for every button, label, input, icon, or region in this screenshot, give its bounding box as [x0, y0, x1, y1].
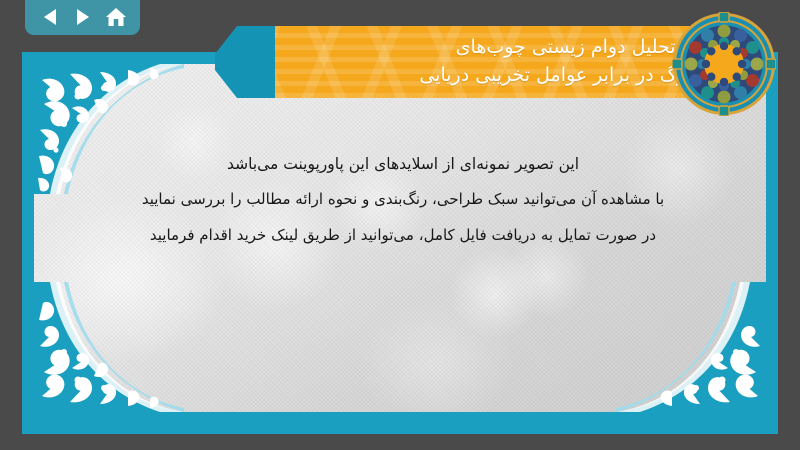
body-line-1: این تصویر نمونه‌ای از اسلایدهای این پاور… [64, 146, 742, 182]
navigation-bar [25, 0, 140, 35]
title-banner-body: کامل تحلیل دوام زیستی چوب‌های پهن‌برگ در… [275, 26, 735, 98]
slide-frame: این تصویر نمونه‌ای از اسلایدهای این پاور… [22, 52, 778, 434]
slide-content-area: این تصویر نمونه‌ای از اسلایدهای این پاور… [34, 64, 766, 412]
forward-button[interactable] [71, 6, 95, 28]
forward-triangle-icon [75, 8, 91, 26]
persian-mandala-medallion [672, 12, 776, 116]
back-triangle-icon [42, 8, 58, 26]
body-line-2: با مشاهده آن می‌توانید سبک طراحی، رنگ‌بن… [64, 182, 742, 217]
home-button[interactable] [104, 6, 128, 28]
banner-tail-chevron [215, 26, 277, 98]
back-button[interactable] [38, 6, 62, 28]
slide-body-text: این تصویر نمونه‌ای از اسلایدهای این پاور… [64, 146, 742, 253]
arabesque-corner-ornament-bottom-left [34, 282, 184, 412]
title-banner: کامل تحلیل دوام زیستی چوب‌های پهن‌برگ در… [215, 26, 735, 98]
home-icon [105, 7, 127, 27]
body-line-3: در صورت تمایل به دریافت فایل کامل، می‌تو… [64, 218, 742, 253]
arabesque-corner-ornament-bottom-right [616, 282, 766, 412]
slide-screenshot: این تصویر نمونه‌ای از اسلایدهای این پاور… [0, 0, 800, 450]
